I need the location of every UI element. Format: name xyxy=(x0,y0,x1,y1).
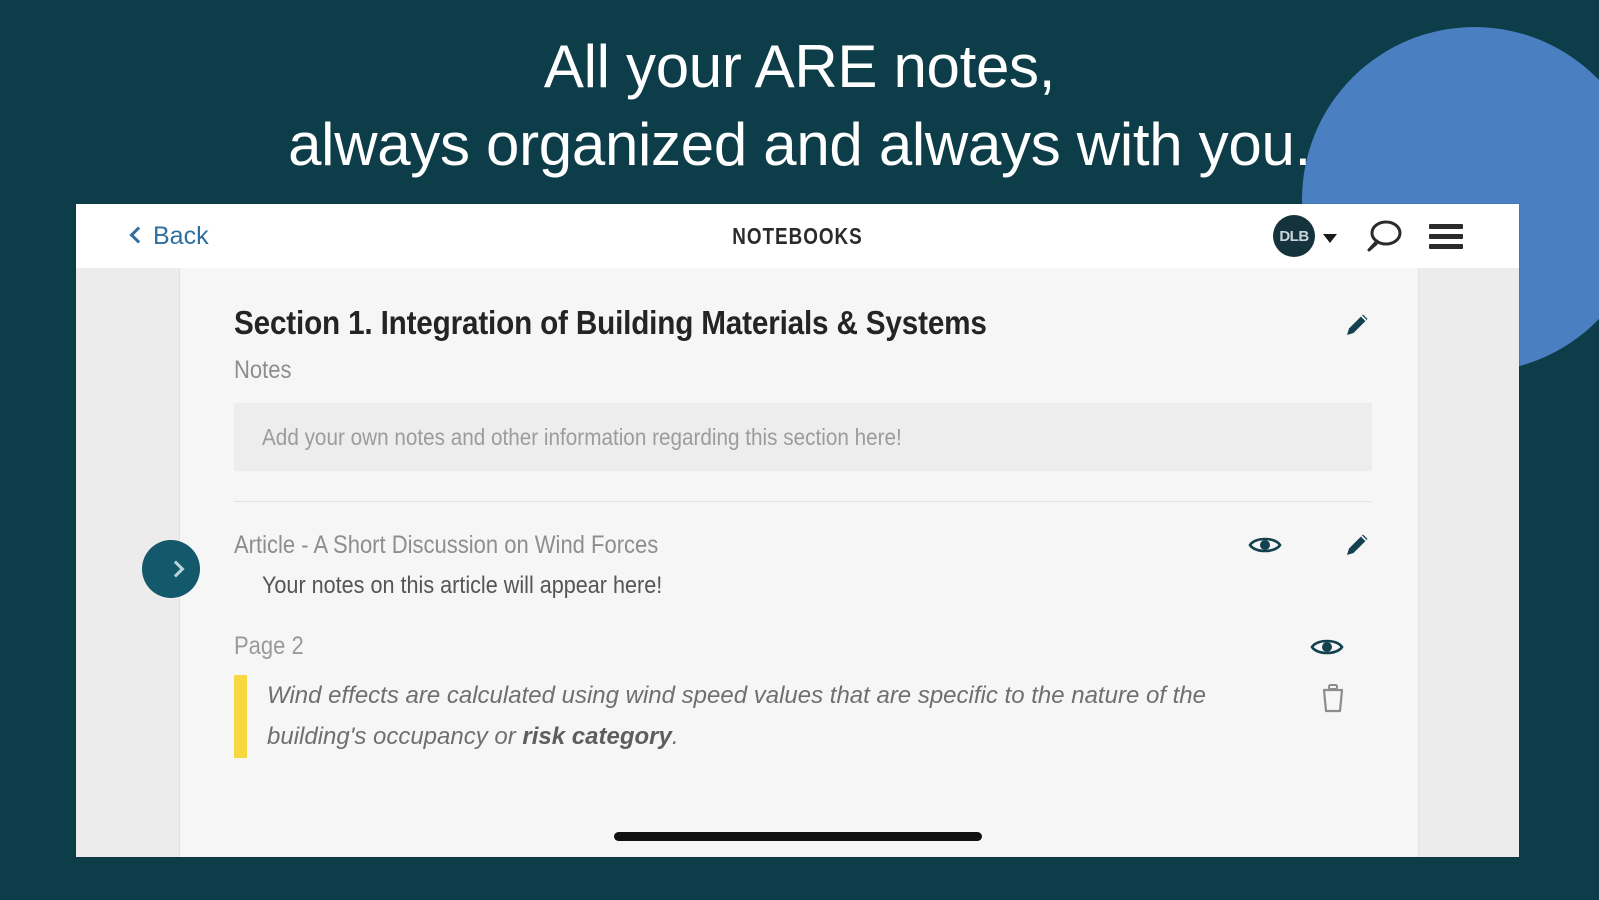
promo-headline: All your ARE notes, always organized and… xyxy=(0,28,1599,184)
highlight-text: Wind effects are calculated using wind s… xyxy=(267,675,1287,758)
article-view-eye-icon[interactable] xyxy=(1248,533,1282,557)
article-note-value: Your notes on this article will appear h… xyxy=(262,572,1261,600)
promo-stage: All your ARE notes, always organized and… xyxy=(0,0,1599,900)
highlight-text-prefix: Wind effects are calculated using wind s… xyxy=(267,682,1206,750)
avatar: DLB xyxy=(1273,215,1315,257)
article-note-text: Your notes on this article will appear h… xyxy=(262,572,1372,600)
app-body: Section 1. Integration of Building Mater… xyxy=(76,268,1519,857)
highlight-delete-trash-icon[interactable] xyxy=(1320,683,1346,713)
account-menu-button[interactable]: DLB xyxy=(1273,215,1337,257)
right-gutter xyxy=(1419,268,1519,857)
highlight-quote: Wind effects are calculated using wind s… xyxy=(234,675,1320,758)
notes-placeholder: Add your own notes and other information… xyxy=(262,424,902,451)
app-window: Back NOTEBOOKS DLB xyxy=(76,204,1519,857)
topbar-actions: DLB xyxy=(1273,215,1463,257)
article-title: Article - A Short Discussion on Wind For… xyxy=(234,531,658,560)
section-title: Section 1. Integration of Building Mater… xyxy=(234,304,987,342)
chat-bubble-icon[interactable] xyxy=(1363,219,1403,253)
page-row: Page 2 xyxy=(234,632,1372,661)
chevron-left-icon xyxy=(130,227,147,244)
page-title: NOTEBOOKS xyxy=(206,223,1389,250)
highlight-text-suffix: . xyxy=(672,723,679,750)
app-topbar: Back NOTEBOOKS DLB xyxy=(76,204,1519,268)
home-indicator-bar xyxy=(614,832,982,841)
chevron-right-icon xyxy=(168,561,185,578)
section-header-row: Section 1. Integration of Building Mater… xyxy=(234,268,1372,342)
page-label: Page 2 xyxy=(234,632,304,661)
back-button-label: Back xyxy=(153,222,209,251)
content-divider xyxy=(234,501,1372,502)
page-view-eye-icon[interactable] xyxy=(1310,635,1344,659)
notebook-content: Section 1. Integration of Building Mater… xyxy=(180,268,1419,857)
hamburger-bar xyxy=(1429,234,1463,239)
hamburger-menu-icon[interactable] xyxy=(1429,224,1463,249)
highlight-color-bar xyxy=(234,675,247,758)
article-row: Article - A Short Discussion on Wind For… xyxy=(234,530,1372,560)
article-edit-pencil-icon[interactable] xyxy=(1342,530,1372,560)
chevron-down-icon xyxy=(1323,234,1337,243)
hamburger-bar xyxy=(1429,224,1463,229)
highlight-text-bold: risk category xyxy=(522,723,671,750)
section-edit-pencil-icon[interactable] xyxy=(1342,310,1372,340)
highlight-row: Wind effects are calculated using wind s… xyxy=(234,675,1372,758)
article-actions xyxy=(1248,530,1372,560)
back-button[interactable]: Back xyxy=(132,222,209,251)
notes-input[interactable]: Add your own notes and other information… xyxy=(234,403,1372,471)
sidebar-expand-button[interactable] xyxy=(142,540,200,598)
notes-label: Notes xyxy=(234,356,1235,385)
hamburger-bar xyxy=(1429,244,1463,249)
